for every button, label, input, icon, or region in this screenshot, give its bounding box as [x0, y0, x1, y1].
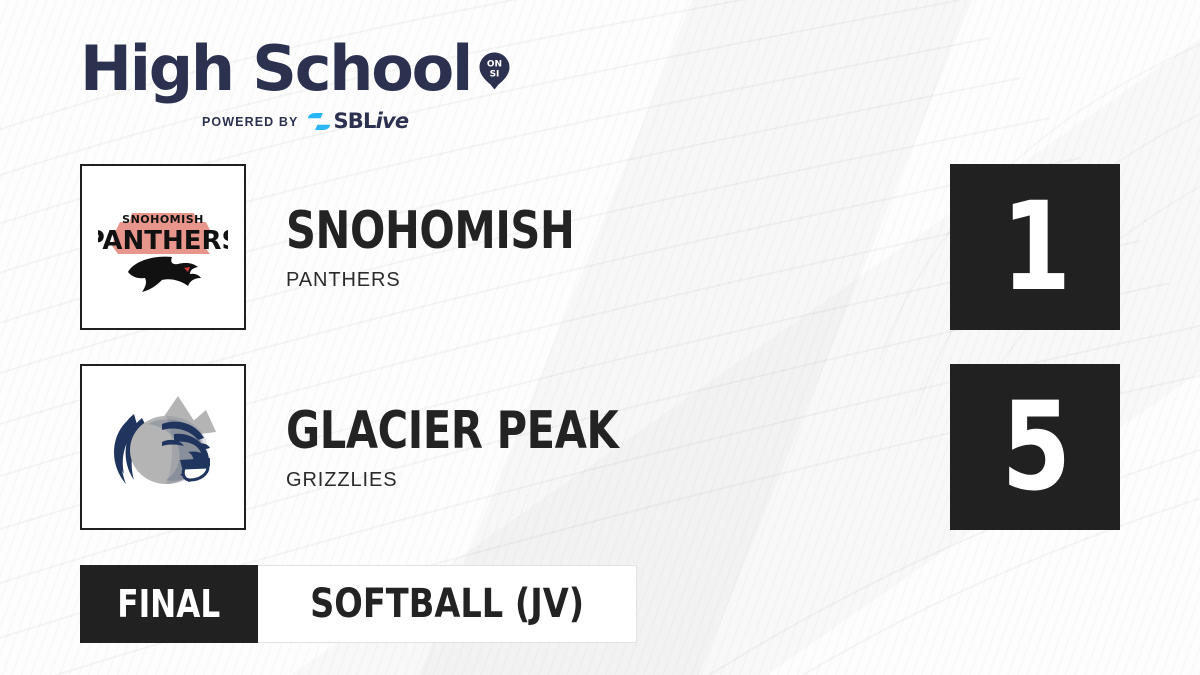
- brand-wordmark-row: High School ON SI: [80, 36, 510, 102]
- pin-text-on: ON: [487, 60, 502, 70]
- logo-text-snohomish: SNOHOMISH: [122, 213, 204, 226]
- game-status-bar: FINAL SOFTBALL (JV): [80, 565, 637, 643]
- team-score-box: 5: [950, 364, 1120, 530]
- team-text-block: GLACIER PEAK GRIZZLIES: [286, 364, 701, 530]
- snohomish-panthers-logo: SNOHOMISH PANTHERS: [98, 200, 228, 295]
- game-state-label: FINAL: [117, 584, 220, 624]
- brand-wordmark: High School: [80, 38, 471, 100]
- game-state-badge: FINAL: [80, 565, 258, 643]
- team-row: SNOHOMISH PANTHERS SNOHOMISH PANTHERS 1: [80, 164, 1120, 334]
- sblive-italic: ive: [376, 109, 409, 133]
- team-text-block: SNOHOMISH PANTHERS: [286, 164, 646, 330]
- on-si-pin-icon: ON SI: [479, 33, 510, 109]
- brand-header: High School ON SI POWERED BY SBLive: [80, 36, 510, 136]
- team-score: 5: [1001, 386, 1069, 508]
- glacier-peak-grizzlies-logo: [104, 388, 222, 506]
- team-mascot: PANTHERS: [286, 269, 646, 291]
- team-logo-box: SNOHOMISH PANTHERS: [80, 164, 246, 330]
- sblive-wordmark: SBLive: [333, 111, 408, 132]
- sblive-swoosh-icon: [307, 112, 331, 131]
- sport-panel: SOFTBALL (JV): [258, 565, 637, 643]
- pin-text-si: SI: [490, 69, 500, 79]
- sblive-bold: SBL: [333, 109, 375, 133]
- team-logo-box: [80, 364, 246, 530]
- sport-label: SOFTBALL (JV): [310, 583, 584, 625]
- team-score-box: 1: [950, 164, 1120, 330]
- logo-text-panthers: PANTHERS: [98, 226, 228, 256]
- panther-head-shape: [128, 256, 201, 291]
- team-name: SNOHOMISH: [286, 203, 574, 259]
- team-name: GLACIER PEAK: [286, 403, 618, 459]
- team-row: GLACIER PEAK GRIZZLIES 5: [80, 364, 1120, 534]
- powered-by-label: POWERED BY: [202, 115, 298, 129]
- team-score: 1: [1001, 186, 1069, 308]
- team-mascot: GRIZZLIES: [286, 469, 701, 491]
- scorecard: High School ON SI POWERED BY SBLive SNO: [0, 0, 1200, 675]
- powered-by-row: POWERED BY SBLive: [202, 111, 510, 132]
